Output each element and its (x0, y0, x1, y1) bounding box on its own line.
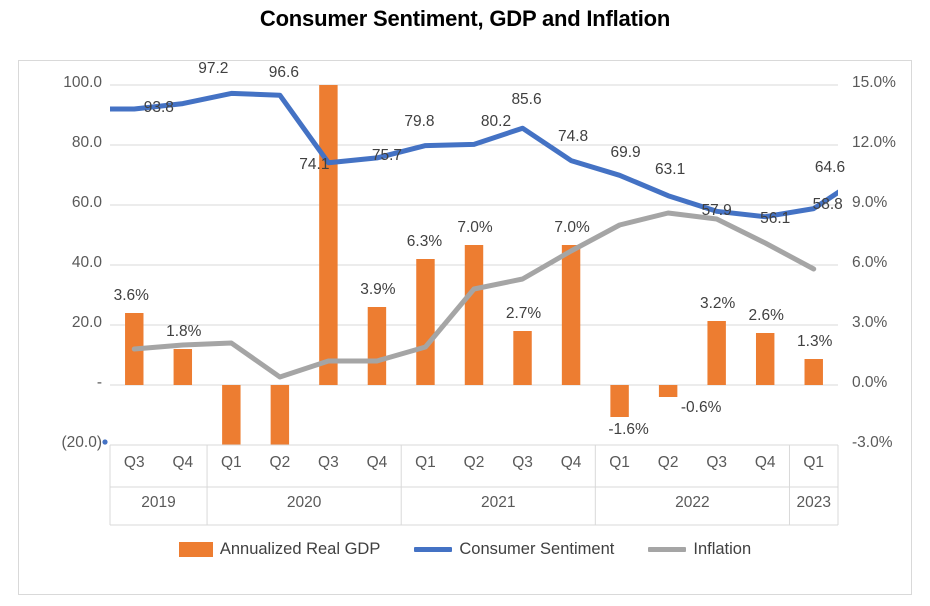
x-axis-quarter-label: Q3 (691, 454, 743, 472)
x-axis-quarter-label: Q3 (302, 454, 354, 472)
x-axis-quarter-label: Q4 (157, 454, 209, 472)
consumer-sentiment-data-label: 80.2 (470, 113, 522, 131)
x-axis-year-label: 2022 (595, 494, 789, 512)
x-axis-year-label: 2023 (789, 494, 838, 512)
gdp-data-label: 2.6% (735, 307, 797, 325)
y-axis-right-tick: 15.0% (852, 74, 896, 92)
gdp-data-label: 2.7% (493, 305, 555, 323)
gdp-data-label: 7.0% (541, 219, 603, 237)
gdp-data-label: -0.6% (670, 399, 732, 417)
gdp-data-label: 3.9% (347, 281, 409, 299)
consumer-sentiment-data-label: 79.8 (393, 113, 445, 131)
consumer-sentiment-data-label: 63.1 (644, 161, 696, 179)
y-axis-left-tick: 60.0 (28, 194, 102, 212)
y-axis-right-tick: 9.0% (852, 194, 887, 212)
y-axis-right-tick: -3.0% (852, 434, 893, 452)
x-axis-year-label: 2020 (207, 494, 401, 512)
x-axis-quarter-label: Q2 (448, 454, 500, 472)
x-axis-quarter-label: Q4 (545, 454, 597, 472)
consumer-sentiment-data-label: 93.8 (133, 99, 185, 117)
x-axis-quarter-label: Q2 (254, 454, 306, 472)
x-axis-quarter-label: Q1 (205, 454, 257, 472)
x-axis-quarter-label: Q4 (351, 454, 403, 472)
x-axis-quarter-label: Q3 (108, 454, 160, 472)
legend-item-label: Inflation (693, 540, 751, 559)
y-axis-left-tick: (20.0) (28, 434, 102, 452)
x-axis-quarter-label: Q1 (399, 454, 451, 472)
y-axis-right-tick: 6.0% (852, 254, 887, 272)
x-axis-quarter-label: Q2 (642, 454, 694, 472)
consumer-sentiment-data-label: 58.8 (802, 196, 854, 214)
y-axis-right-tick: 12.0% (852, 134, 896, 152)
consumer-sentiment-data-label: 74.8 (547, 128, 599, 146)
gdp-data-label: 1.8% (153, 323, 215, 341)
x-axis-quarter-label: Q1 (788, 454, 840, 472)
legend-item-label: Consumer Sentiment (459, 540, 614, 559)
legend-item[interactable]: Annualized Real GDP (179, 540, 381, 559)
legend-item[interactable]: Inflation (648, 540, 751, 559)
consumer-sentiment-data-label: 69.9 (600, 144, 652, 162)
consumer-sentiment-data-label: 75.7 (361, 147, 413, 165)
y-axis-left-tick: 20.0 (28, 314, 102, 332)
consumer-sentiment-data-label: 97.2 (187, 60, 239, 78)
y-axis-left-tick: 100.0 (28, 74, 102, 92)
legend-line-swatch-icon (648, 547, 686, 552)
consumer-sentiment-data-label: 85.6 (501, 91, 553, 109)
gdp-data-label: 3.6% (100, 287, 162, 305)
consumer-sentiment-data-label: 96.6 (258, 64, 310, 82)
legend-line-swatch-icon (414, 547, 452, 552)
gdp-data-label: -1.6% (598, 421, 660, 439)
legend-bar-swatch-icon (179, 542, 213, 557)
consumer-sentiment-data-label: 57.9 (691, 202, 743, 220)
x-axis-quarter-label: Q3 (497, 454, 549, 472)
x-axis-year-label: 2021 (401, 494, 595, 512)
y-axis-right-tick: 3.0% (852, 314, 887, 332)
chart-container: Consumer Sentiment, GDP and Inflation 10… (0, 0, 930, 606)
gdp-data-label: 1.3% (784, 333, 846, 351)
x-axis-year-label: 2019 (110, 494, 207, 512)
consumer-sentiment-data-label: 74.1 (288, 156, 340, 174)
consumer-sentiment-end-label: 64.6 (800, 159, 860, 177)
y-axis-left-tick: - (28, 374, 102, 392)
x-axis-quarter-label: Q4 (739, 454, 791, 472)
x-axis-quarter-label: Q1 (594, 454, 646, 472)
y-axis-left-tick: 40.0 (28, 254, 102, 272)
consumer-sentiment-data-label: 56.1 (749, 210, 801, 228)
legend-item-label: Annualized Real GDP (220, 540, 381, 559)
y-axis-left-tick: 80.0 (28, 134, 102, 152)
gdp-data-label: 7.0% (444, 219, 506, 237)
chart-legend: Annualized Real GDPConsumer SentimentInf… (0, 540, 930, 559)
y-axis-right-tick: 0.0% (852, 374, 887, 392)
legend-item[interactable]: Consumer Sentiment (414, 540, 614, 559)
